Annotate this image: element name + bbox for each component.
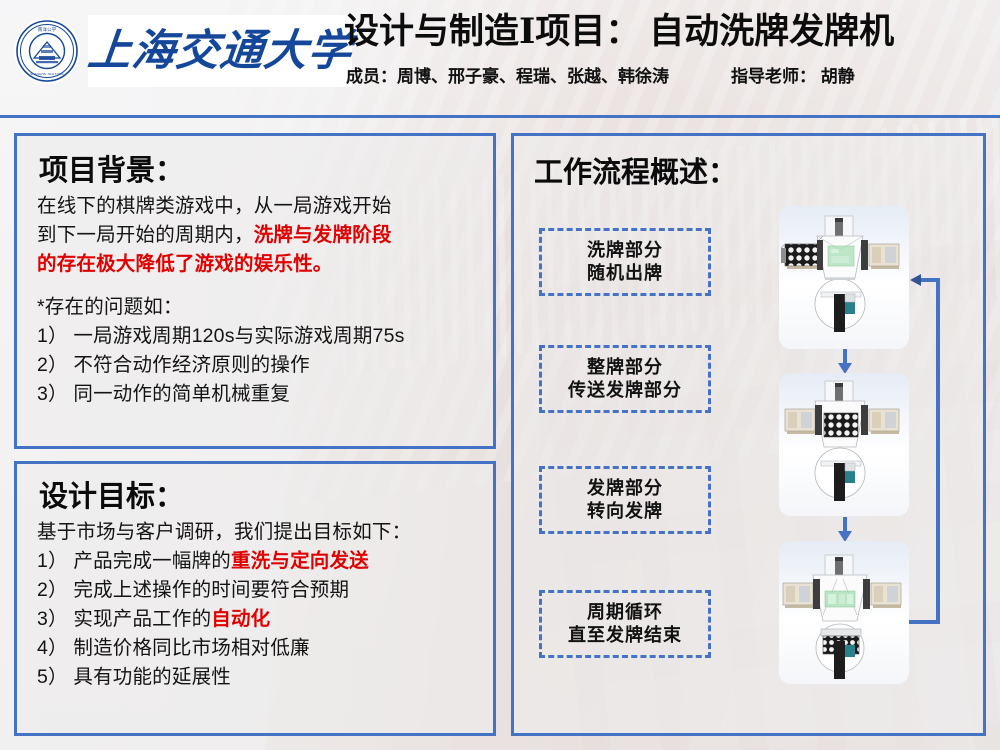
university-logo: 南洋公学 SHANGHAI JIAO TONG 上海交通大学: [14, 11, 336, 91]
university-wordmark: 上海交通大学: [88, 15, 352, 87]
arrow-left-icon: [910, 274, 921, 286]
workflow-step-2-line1: 整牌部分: [587, 356, 663, 379]
advisor-label: 指导老师： 胡静: [731, 67, 855, 86]
workflow-step-4-line2: 直至发牌结束: [568, 624, 682, 647]
slide-header: 南洋公学 SHANGHAI JIAO TONG 上海交通大学 设计与制造Ⅰ项目：…: [0, 0, 1000, 117]
workflow-step-1-line2: 随机出牌: [587, 262, 663, 285]
bg-issue-3: 3） 同一动作的简单机械重复: [37, 380, 479, 409]
bg-spacer: [37, 279, 479, 293]
goal-item-3-highlight: 自动化: [211, 608, 270, 630]
loopback-bottom-line: [908, 620, 940, 624]
byline: 成员：周博、邢子豪、程瑞、张越、韩徐涛指导老师： 胡静: [346, 62, 996, 92]
loopback-top-line: [920, 278, 940, 282]
bg-issue-2: 2） 不符合动作经济原则的操作: [37, 351, 479, 380]
page-title: 设计与制造Ⅰ项目： 自动洗牌发牌机: [344, 8, 994, 56]
design-goals-title: 设计目标：: [17, 464, 493, 514]
svg-text:SHANGHAI JIAO TONG: SHANGHAI JIAO TONG: [30, 72, 64, 76]
workflow-step-3-line1: 发牌部分: [587, 477, 663, 500]
goal-item-4: 4） 制造价格同比市场相对低廉: [37, 634, 479, 663]
members-label: 成员：周博、邢子豪、程瑞、张越、韩徐涛: [346, 67, 669, 86]
workflow-title: 工作流程概述：: [514, 136, 983, 190]
design-goals-panel: 设计目标： 基于市场与客户调研，我们提出目标如下： 1） 产品完成一幅牌的重洗与…: [14, 461, 496, 736]
loopback-connector: [908, 274, 970, 624]
design-goals-body: 基于市场与客户调研，我们提出目标如下： 1） 产品完成一幅牌的重洗与定向发送 2…: [17, 514, 493, 692]
goal-intro: 基于市场与客户调研，我们提出目标如下：: [37, 518, 479, 547]
workflow-step-1-line1: 洗牌部分: [587, 239, 663, 262]
bg-para-line2-highlight: 洗牌与发牌阶段: [254, 224, 392, 246]
bg-para-line3-highlight: 的存在极大降低了游戏的娱乐性。: [37, 250, 479, 279]
header-divider: [0, 115, 1000, 118]
workflow-step-4-line1: 周期循环: [587, 601, 663, 624]
loopback-vertical-line: [936, 278, 940, 624]
university-seal-icon: 南洋公学 SHANGHAI JIAO TONG: [14, 18, 80, 84]
workflow-step-3-line2: 转向发牌: [587, 500, 663, 523]
workflow-step-2[interactable]: 整牌部分 传送发牌部分: [539, 345, 711, 413]
connector-card1-to-card2: [838, 349, 852, 375]
bg-para-line2-plain: 到下一局开始的周期内，: [37, 224, 254, 246]
project-background-panel: 项目背景： 在线下的棋牌类游戏中，从一局游戏开始 到下一局开始的周期内，洗牌与发…: [14, 133, 496, 449]
university-wordmark-text: 上海交通大学: [86, 30, 355, 73]
project-background-title: 项目背景：: [17, 136, 493, 188]
machine-render-card-3[interactable]: [779, 541, 909, 684]
workflow-step-4[interactable]: 周期循环 直至发牌结束: [539, 590, 711, 658]
connector-card2-to-card3: [838, 517, 852, 543]
bg-issues-heading: *存在的问题如：: [37, 293, 479, 322]
bg-para-line1: 在线下的棋牌类游戏中，从一局游戏开始: [37, 192, 479, 221]
bg-issue-1: 1） 一局游戏周期120s与实际游戏周期75s: [37, 322, 479, 351]
bg-para-line2: 到下一局开始的周期内，洗牌与发牌阶段: [37, 221, 479, 250]
goal-item-1: 1） 产品完成一幅牌的重洗与定向发送: [37, 547, 479, 576]
workflow-step-3[interactable]: 发牌部分 转向发牌: [539, 466, 711, 534]
goal-item-1-highlight: 重洗与定向发送: [231, 550, 369, 572]
svg-text:南洋公学: 南洋公学: [38, 26, 57, 33]
machine-render-card-2[interactable]: [779, 373, 909, 516]
workflow-step-1[interactable]: 洗牌部分 随机出牌: [539, 228, 711, 296]
slide-root: 南洋公学 SHANGHAI JIAO TONG 上海交通大学 设计与制造Ⅰ项目：…: [0, 0, 1000, 750]
goal-item-3-plain: 3） 实现产品工作的: [37, 608, 211, 630]
workflow-step-2-line2: 传送发牌部分: [568, 379, 682, 402]
goal-item-3: 3） 实现产品工作的自动化: [37, 605, 479, 634]
goal-item-1-plain: 1） 产品完成一幅牌的: [37, 550, 231, 572]
goal-item-5: 5） 具有功能的延展性: [37, 663, 479, 692]
machine-render-card-1[interactable]: [779, 206, 909, 349]
project-background-body: 在线下的棋牌类游戏中，从一局游戏开始 到下一局开始的周期内，洗牌与发牌阶段 的存…: [17, 188, 493, 409]
goal-item-2: 2） 完成上述操作的时间要符合预期: [37, 576, 479, 605]
